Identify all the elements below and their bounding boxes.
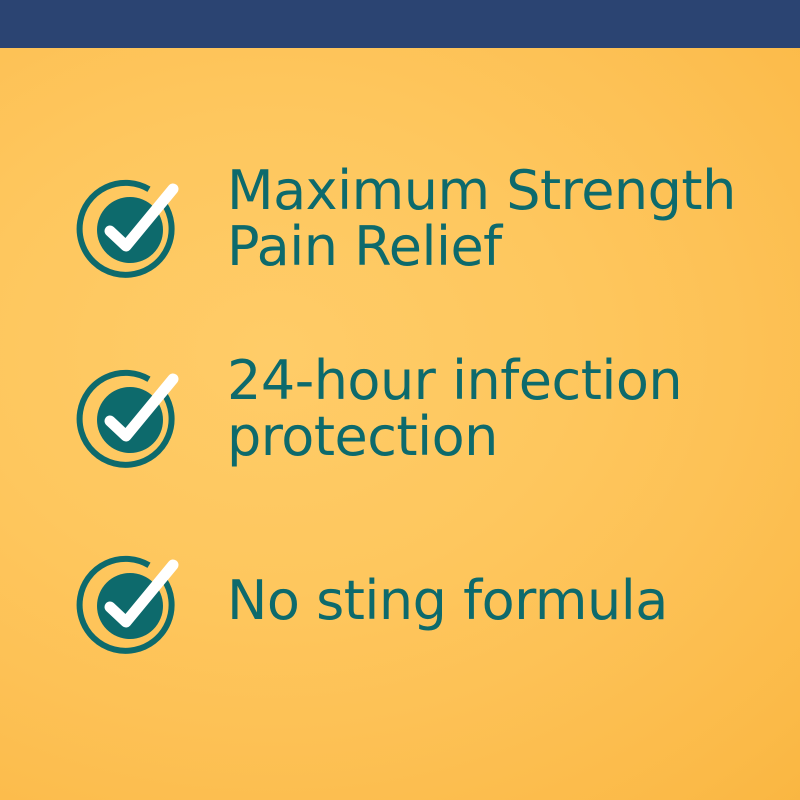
product-benefits-panel: Maximum Strength Pain Relief 24-hour inf…: [0, 0, 800, 800]
top-bar: [0, 0, 800, 48]
feature-item: Maximum Strength Pain Relief: [0, 170, 800, 290]
feature-label: No sting formula: [227, 573, 800, 629]
feature-label: Maximum Strength Pain Relief: [227, 163, 800, 275]
feature-list: Maximum Strength Pain Relief 24-hour inf…: [0, 48, 800, 800]
feature-label: 24-hour infection protection: [227, 353, 800, 465]
check-circle-icon: [72, 546, 192, 666]
feature-item: No sting formula: [0, 546, 800, 666]
check-circle-icon: [72, 170, 192, 290]
feature-item: 24-hour infection protection: [0, 360, 800, 480]
check-circle-icon: [72, 360, 192, 480]
